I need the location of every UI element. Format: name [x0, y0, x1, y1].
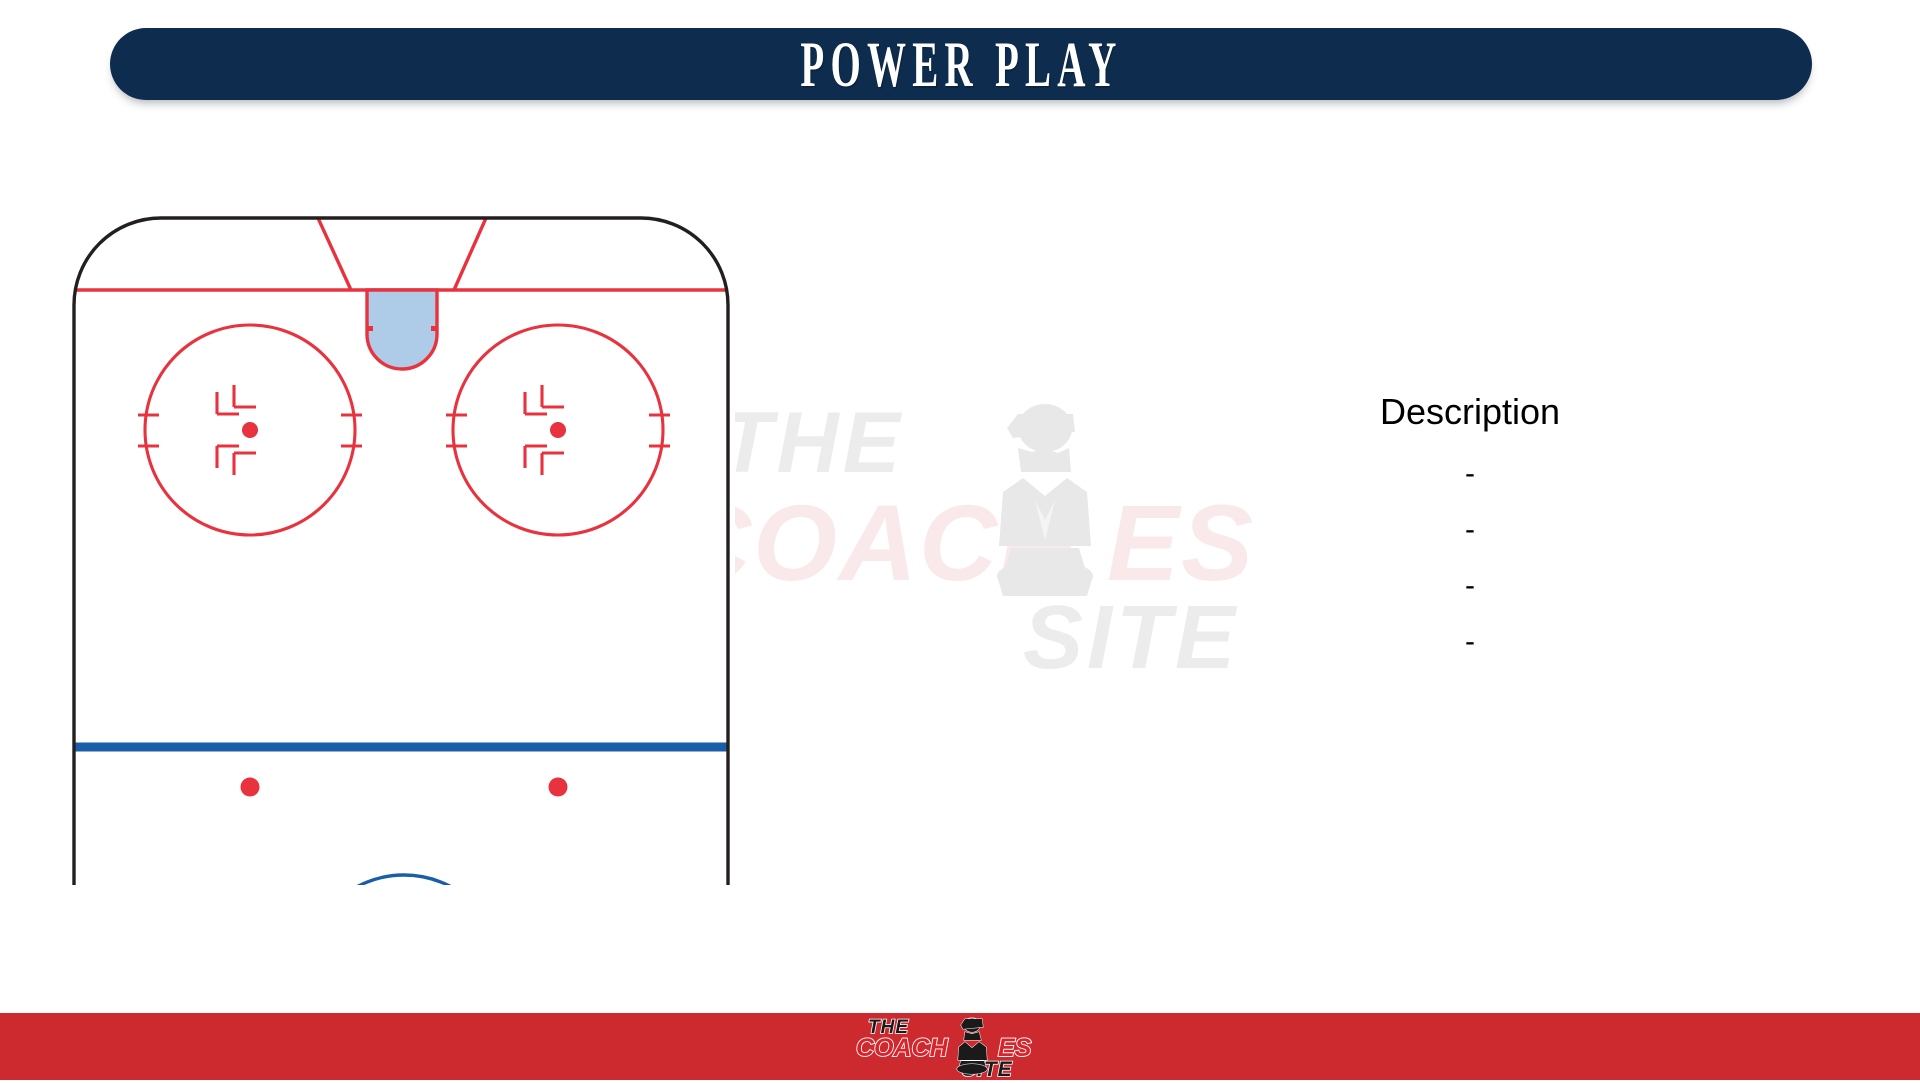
watermark-text-es: ES	[1107, 482, 1255, 603]
logo-text-coach: COACH	[856, 1034, 949, 1062]
watermark-text-site: SITE	[1023, 588, 1239, 685]
description-title: Description	[1270, 390, 1670, 433]
description-bullet-2[interactable]: -	[1270, 515, 1670, 545]
neutral-faceoff-dot-right	[549, 778, 568, 797]
watermark-text-the: THE	[735, 400, 904, 491]
goal-crease	[366, 290, 438, 369]
rink-diagram-container[interactable]	[66, 210, 746, 885]
watermark-text-coach: COACH	[735, 482, 1079, 603]
description-bullet-3[interactable]: -	[1270, 571, 1670, 601]
hockey-rink-svg	[66, 210, 746, 885]
watermark-coach-figure	[997, 404, 1093, 596]
coaches-site-watermark: THE COACH ES SITE	[735, 400, 1295, 685]
page-title: POWER PLAY	[800, 32, 1122, 97]
description-bullet-4[interactable]: -	[1270, 627, 1670, 657]
coaches-site-logo[interactable]: THE COACH ES SITE	[850, 1016, 1070, 1078]
footer-bar: THE COACH ES SITE	[0, 1013, 1920, 1080]
title-banner: POWER PLAY	[110, 28, 1812, 100]
neutral-faceoff-dot-left	[241, 778, 260, 797]
description-block: Description - - - -	[1270, 390, 1670, 683]
description-bullet-1[interactable]: -	[1270, 459, 1670, 489]
logo-coach-figure	[957, 1018, 987, 1074]
